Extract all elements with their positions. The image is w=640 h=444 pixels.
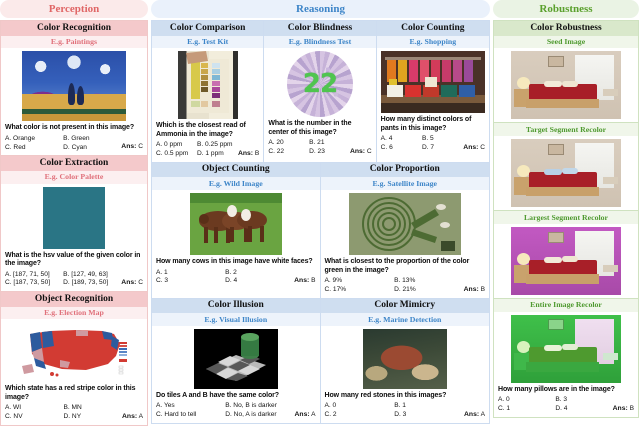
bed-frame-recolored — [526, 362, 599, 372]
image-us-election-results-map — [16, 322, 132, 382]
answer-cell: Ans: C — [121, 143, 143, 152]
pillow — [562, 344, 579, 350]
us-map-svg — [16, 322, 132, 382]
category-title: Object Counting — [152, 163, 320, 178]
card-object-counting: Object Counting E.g. Wild Image — [152, 163, 321, 298]
answer-value: B — [630, 405, 634, 412]
option-b: B. MN — [64, 404, 121, 413]
option-b: B. 13% — [394, 277, 462, 286]
answer-cell: Ans: B — [294, 277, 315, 286]
card-color-comparison: Color Comparison E.g. Test Kit — [152, 21, 264, 162]
cypress-tree-icon — [68, 83, 75, 105]
crop-circles-svg — [349, 193, 461, 255]
figure-root: Perception Color Recognition E.g. Painti… — [0, 0, 640, 444]
card-color-counting: Color Counting E.g. Shopping — [377, 21, 489, 162]
option-d: D. 23 — [309, 148, 348, 157]
desk — [603, 265, 617, 272]
answer-value: B — [481, 286, 485, 293]
thumbnail-wrapper — [498, 315, 634, 383]
option-d: D. 1 ppm — [197, 150, 236, 159]
question-text: How many distinct colors of pants in thi… — [381, 116, 485, 133]
section-title-perception: Perception — [0, 0, 148, 18]
option-a: A. 0 — [325, 402, 393, 411]
option-d: D. No, A is darker — [225, 411, 292, 420]
option-c: C. 6 — [381, 144, 420, 153]
section-title-reasoning: Reasoning — [151, 0, 490, 18]
option-c: C. NV — [5, 413, 62, 422]
lamp — [517, 165, 530, 177]
lamp — [517, 77, 530, 89]
answer-label: Ans: — [238, 150, 253, 157]
lamp — [517, 341, 530, 353]
option-d: D. NY — [64, 413, 121, 422]
question-text: What is the hsv value of the given color… — [5, 252, 143, 269]
pillow — [562, 81, 579, 87]
options-list: A. WI B. MN Ans: A C. NV D. NY — [5, 404, 143, 421]
stage-largest-segment-recolor: Largest Segment Recolor — [494, 211, 638, 299]
options-list: A. Orange B. Green Ans: C C. Red D. Cyan — [5, 135, 143, 152]
example-label: E.g. Satellite Image — [321, 177, 490, 190]
answer-value: C — [138, 279, 143, 286]
thumbnail-wrapper — [156, 193, 316, 255]
answer-cell: Ans: C — [350, 148, 372, 157]
reasoning-row-1: Color Comparison E.g. Test Kit — [152, 21, 489, 163]
example-label: E.g. Marine Detection — [321, 313, 490, 326]
answer-value: B — [255, 150, 259, 157]
category-title: Object Recognition — [1, 292, 147, 307]
options-list: A. Yes B. No, B is darker Ans: A C. Hard… — [156, 402, 316, 419]
image-bedroom-largest-segment-recolor — [511, 227, 621, 295]
bed-frame — [526, 274, 599, 284]
thumbnail-wrapper — [5, 322, 143, 382]
option-b: B. Green — [63, 135, 119, 144]
answer-value: C — [138, 143, 143, 150]
answer-cell: Ans: B — [464, 286, 485, 295]
stage-seed-image: Seed Image — [494, 36, 638, 124]
image-teal-color-swatch — [43, 187, 105, 249]
column-perception: Perception Color Recognition E.g. Painti… — [0, 0, 148, 426]
stage-target-segment-recolor: Target Segment Recolor — [494, 123, 638, 211]
option-a: A. 20 — [268, 139, 307, 148]
category-title: Color Mimicry — [321, 299, 490, 314]
option-a: A. 0 ppm — [156, 141, 195, 150]
options-list: A. 0 B. 1 Ans: A C. 2 D. 3 — [325, 402, 486, 419]
answer-label: Ans: — [294, 277, 309, 284]
section-title-robustness: Robustness — [493, 0, 639, 18]
pants-rack-svg — [381, 51, 485, 113]
option-d: D. 21% — [394, 286, 462, 295]
desk — [603, 89, 617, 96]
card-color-mimicry: Color Mimicry E.g. Marine Detection How … — [321, 299, 490, 423]
option-a: A. [187, 71, 50] — [5, 271, 61, 280]
stage-label: Largest Segment Recolor — [494, 211, 638, 224]
pillow — [544, 81, 562, 87]
example-label: E.g. Visual Illusion — [152, 313, 320, 326]
option-a: A. WI — [5, 404, 62, 413]
option-b: B. 5 — [422, 135, 461, 144]
reasoning-row-3: Color Illusion E.g. Visual Illusion — [152, 299, 489, 423]
image-checkerboard-shadow-illusion — [194, 329, 278, 389]
answer-cell: Ans: A — [122, 413, 143, 422]
category-title: Color Extraction — [1, 156, 147, 171]
option-b: B. [127, 49, 63] — [63, 271, 119, 280]
test-kit-svg — [178, 51, 238, 119]
example-label: E.g. Wild Image — [152, 177, 320, 190]
options-list: A. 0 B. 3 Ans: B C. 1 D. 4 — [498, 396, 634, 413]
question-text: Do tiles A and B have the same color? — [156, 392, 316, 401]
answer-label: Ans: — [122, 413, 137, 420]
option-d: D. 3 — [394, 411, 462, 420]
card-color-illusion: Color Illusion E.g. Visual Illusion — [152, 299, 321, 423]
option-d: D. [189, 73, 50] — [63, 279, 119, 288]
example-label: E.g. Test Kit — [152, 36, 263, 49]
column-robustness: Robustness Color Robustness Seed Image — [493, 0, 639, 418]
reasoning-panel: Color Comparison E.g. Test Kit — [151, 20, 490, 424]
desk — [603, 353, 617, 360]
category-title: Color Illusion — [152, 299, 320, 314]
card-color-proportion: Color Proportion E.g. Satellite Image — [321, 163, 490, 298]
option-d: D. 7 — [422, 144, 461, 153]
wall-picture — [548, 319, 563, 330]
example-label: E.g. Blindness Test — [264, 36, 375, 49]
option-c: C. 3 — [156, 277, 223, 286]
question-text: How many pillows are in the image? — [498, 386, 634, 395]
answer-value: A — [311, 411, 315, 418]
category-title: Color Robustness — [494, 21, 638, 36]
option-a: A. 0 — [498, 396, 553, 405]
answer-value: C — [480, 144, 485, 151]
image-cows-grazing-field — [190, 193, 282, 255]
bed-frame — [526, 99, 599, 109]
example-label: E.g. Paintings — [1, 36, 147, 49]
answer-label: Ans: — [121, 279, 136, 286]
wall-picture — [548, 56, 563, 67]
perception-panel: Color Recognition E.g. Paintings What co… — [0, 20, 148, 426]
option-b: B. 3 — [555, 396, 610, 405]
example-label: E.g. Color Palette — [1, 171, 147, 184]
stage-label: Target Segment Recolor — [494, 123, 638, 136]
answer-cell: Ans: B — [238, 150, 259, 159]
image-bedroom-entire-image-recolor — [511, 315, 621, 383]
desk — [603, 177, 617, 184]
options-list: A. 1 B. 2 Ans: B C. 3 D. 4 — [156, 269, 316, 286]
thumbnail-wrapper — [325, 329, 486, 389]
answer-label: Ans: — [464, 411, 479, 418]
wall-picture — [548, 232, 563, 243]
option-c: C. 1 — [498, 405, 553, 414]
answer-label: Ans: — [350, 148, 365, 155]
options-list: A. 4 B. 5 Ans: C C. 6 D. 7 — [381, 135, 485, 152]
answer-value: C — [367, 148, 372, 155]
thumbnail-wrapper — [498, 51, 634, 119]
option-c: C. 2 — [325, 411, 393, 420]
stage-label: Entire Image Recolor — [494, 299, 638, 312]
answer-value: B — [311, 277, 315, 284]
answer-label: Ans: — [121, 143, 136, 150]
answer-cell: Ans: B — [613, 405, 634, 414]
question-text: What color is not present in this image? — [5, 124, 143, 133]
image-van-gogh-wheatfield-painting — [22, 51, 126, 121]
answer-label: Ans: — [295, 411, 310, 418]
category-title: Color Proportion — [321, 163, 490, 178]
category-title: Color Comparison — [152, 21, 263, 36]
plate-number: 22 — [287, 51, 353, 117]
thumbnail-wrapper — [156, 51, 259, 119]
wall-picture — [548, 144, 563, 155]
answer-value: A — [139, 413, 143, 420]
answer-cell: Ans: C — [121, 279, 143, 288]
thumbnail-wrapper — [498, 139, 634, 207]
thumbnail-wrapper — [498, 227, 634, 295]
answer-cell: Ans: A — [295, 411, 316, 420]
option-d: D. Cyan — [63, 144, 119, 153]
answer-cell: Ans: A — [464, 411, 485, 420]
option-b: B. 21 — [309, 139, 348, 148]
option-c: C. Hard to tell — [156, 411, 223, 420]
option-a: A. 1 — [156, 269, 223, 278]
thumbnail-wrapper — [5, 187, 143, 249]
option-c: C. Red — [5, 144, 61, 153]
answer-label: Ans: — [613, 405, 628, 412]
pillow-recolored — [562, 168, 579, 174]
options-list: A. [187, 71, 50] B. [127, 49, 63] Ans: C… — [5, 271, 143, 288]
option-d: D. 4 — [225, 277, 292, 286]
question-text: Which is the closest read of Ammonia in … — [156, 122, 259, 139]
answer-cell: Ans: C — [463, 144, 485, 153]
column-reasoning: Reasoning Color Comparison E.g. Test Kit — [151, 0, 490, 424]
question-text: What is the number in the center of this… — [268, 120, 371, 137]
option-a: A. 4 — [381, 135, 420, 144]
option-c: C. [187, 73, 50] — [5, 279, 61, 288]
thumbnail-wrapper — [381, 51, 485, 113]
option-a: A. 9% — [325, 277, 393, 286]
answer-label: Ans: — [463, 144, 478, 151]
category-title: Color Blindness — [264, 21, 375, 36]
option-b: B. 0.25 ppm — [197, 141, 236, 150]
answer-label: Ans: — [464, 286, 479, 293]
option-b: B. 2 — [225, 269, 292, 278]
image-bedroom-target-segment-recolor — [511, 139, 621, 207]
image-bedroom-seed-image — [511, 51, 621, 119]
lamp — [517, 253, 530, 265]
question-text: How many red stones in this images? — [325, 392, 486, 401]
option-b: B. No, B is darker — [225, 402, 292, 411]
thumbnail-wrapper: 22 — [268, 51, 371, 117]
option-a: A. Yes — [156, 402, 223, 411]
card-color-recognition: Color Recognition E.g. Paintings What co… — [1, 21, 147, 156]
options-list: A. 9% B. 13% Ans: B C. 17% D. 21% — [325, 277, 486, 294]
option-d: D. 4 — [555, 405, 610, 414]
stage-entire-image-recolor: Entire Image Recolor — [494, 299, 638, 417]
checker-illusion-svg — [194, 329, 278, 389]
image-satellite-crop-circles — [349, 193, 461, 255]
option-c: C. 17% — [325, 286, 393, 295]
pillow — [562, 256, 579, 262]
pillow — [544, 345, 562, 351]
card-object-recognition: Object Recognition E.g. Election Map — [1, 292, 147, 425]
cows-svg — [190, 193, 282, 255]
image-water-test-kit-strip — [178, 51, 238, 119]
question-text: What is closest to the proportion of the… — [325, 258, 486, 275]
robustness-panel: Color Robustness Seed Image — [493, 20, 639, 418]
pillow-recolored — [544, 169, 562, 175]
example-label: E.g. Shopping — [377, 36, 489, 49]
option-a: A. Orange — [5, 135, 61, 144]
option-c: C. 22 — [268, 148, 307, 157]
category-title: Color Counting — [377, 21, 489, 36]
bed-frame — [526, 187, 599, 197]
category-title: Color Recognition — [1, 21, 147, 36]
card-color-blindness: Color Blindness E.g. Blindness Test 22 W… — [264, 21, 376, 162]
card-color-extraction: Color Extraction E.g. Color Palette What… — [1, 156, 147, 292]
option-b: B. 1 — [394, 402, 462, 411]
thumbnail-wrapper — [156, 329, 316, 389]
question-text: How many cows in this image have white f… — [156, 258, 316, 267]
image-ishihara-color-blindness-plate: 22 — [287, 51, 353, 117]
image-camouflaged-marine-creature — [363, 329, 447, 389]
image-clothing-store-pants-rack — [381, 51, 485, 113]
options-list: A. 0 ppm B. 0.25 ppm Ans: B C. 0.5 ppm D… — [156, 141, 259, 158]
question-text: Which state has a red stripe color in th… — [5, 385, 143, 402]
reasoning-row-2: Object Counting E.g. Wild Image — [152, 163, 489, 299]
stage-label: Seed Image — [494, 36, 638, 49]
pillow — [544, 257, 562, 263]
thumbnail-wrapper — [5, 51, 143, 121]
option-c: C. 0.5 ppm — [156, 150, 195, 159]
thumbnail-wrapper — [325, 193, 486, 255]
cypress-tree-icon — [77, 86, 84, 105]
answer-value: A — [481, 411, 485, 418]
example-label: E.g. Election Map — [1, 307, 147, 320]
options-list: A. 20 B. 21 Ans: C C. 22 D. 23 — [268, 139, 371, 156]
